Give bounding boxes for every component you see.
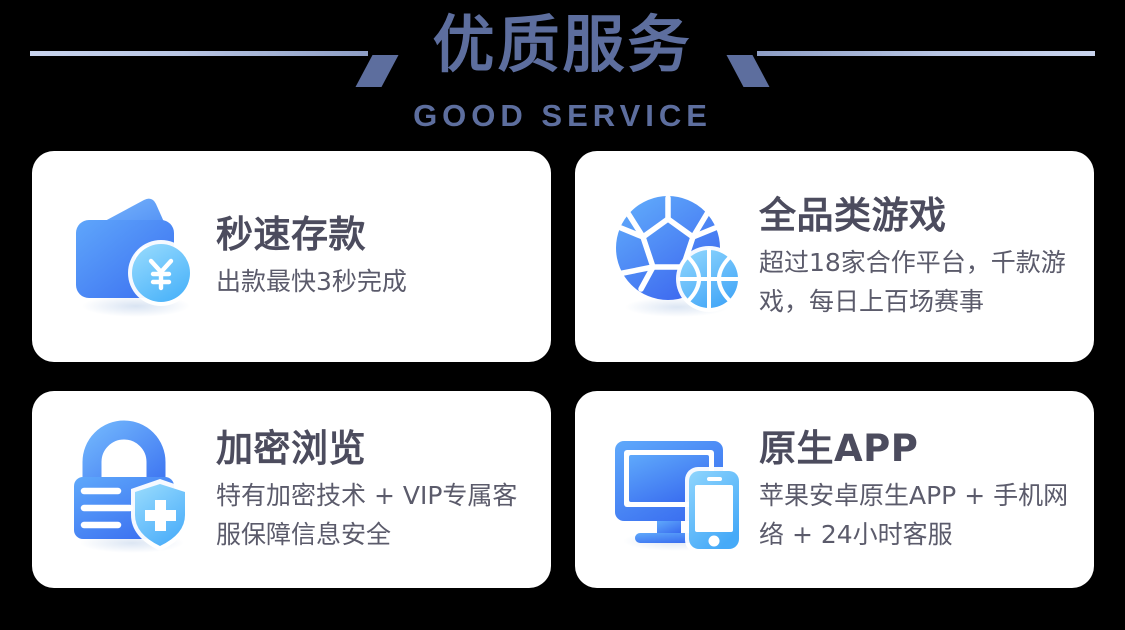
monitor-phone-icon	[603, 415, 753, 565]
card-title: 加密浏览	[216, 426, 537, 472]
card-description: 特有加密技术 + VIP专属客服保障信息安全	[216, 476, 537, 554]
page-subtitle: GOOD SERVICE	[0, 98, 1125, 134]
card-description: 超过18家合作平台，千款游戏，每日上百场赛事	[759, 243, 1080, 321]
feature-card-encryption[interactable]: 加密浏览 特有加密技术 + VIP专属客服保障信息安全	[32, 391, 551, 588]
wallet-yen-icon	[60, 182, 210, 332]
feature-card-deposit[interactable]: 秒速存款 出款最快3秒完成	[32, 151, 551, 362]
feature-card-games[interactable]: 全品类游戏 超过18家合作平台，千款游戏，每日上百场赛事	[575, 151, 1094, 362]
page-header: 优质服务 GOOD SERVICE	[0, 0, 1125, 145]
card-description: 苹果安卓原生APP + 手机网络 + 24小时客服	[759, 476, 1080, 554]
soccer-basketball-icon	[603, 182, 753, 332]
feature-card-native-app[interactable]: 原生APP 苹果安卓原生APP + 手机网络 + 24小时客服	[575, 391, 1094, 588]
card-title: 原生APP	[759, 426, 1080, 472]
card-description: 出款最快3秒完成	[216, 262, 537, 301]
card-text-games: 全品类游戏 超过18家合作平台，千款游戏，每日上百场赛事	[759, 193, 1094, 321]
card-title: 秒速存款	[216, 212, 537, 258]
card-text-native-app: 原生APP 苹果安卓原生APP + 手机网络 + 24小时客服	[759, 426, 1094, 554]
card-text-deposit: 秒速存款 出款最快3秒完成	[216, 212, 551, 301]
page-title: 优质服务	[0, 8, 1125, 82]
feature-card-grid: 秒速存款 出款最快3秒完成	[32, 151, 1094, 588]
lock-shield-icon	[60, 415, 210, 565]
card-title: 全品类游戏	[759, 193, 1080, 239]
card-text-encryption: 加密浏览 特有加密技术 + VIP专属客服保障信息安全	[216, 426, 551, 554]
